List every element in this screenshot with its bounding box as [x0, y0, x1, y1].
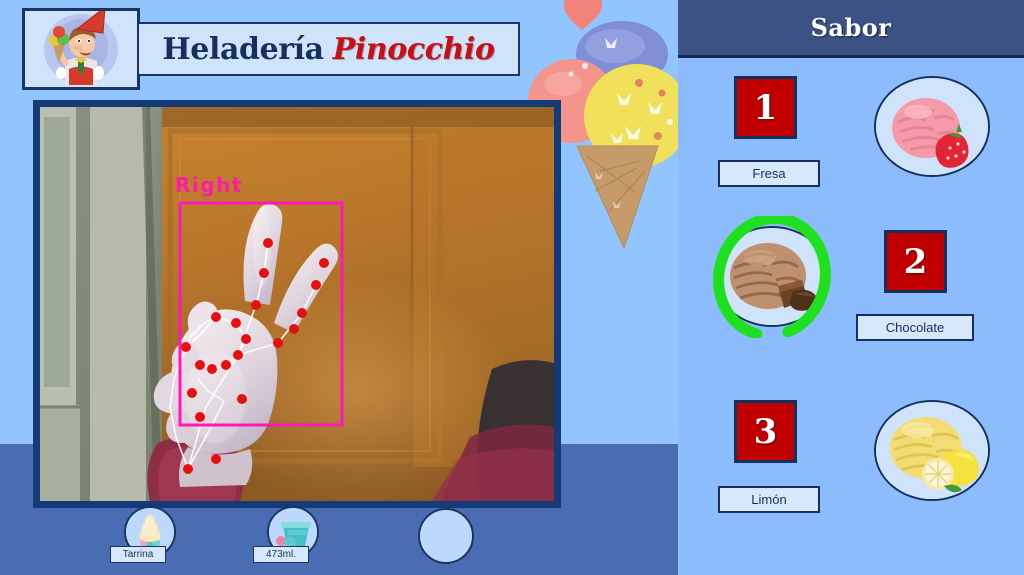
toolbar-item-tarrina[interactable]: Tarrina [124, 506, 184, 566]
flavor-label: Fresa [718, 160, 820, 187]
title-name-word: Pinocchio [333, 32, 495, 67]
toolbar-item-label: Tarrina [110, 546, 166, 563]
flavor-number: 1 [754, 91, 778, 125]
flavor-sidebar: Sabor 1 Fresa [678, 0, 1024, 575]
flavor-option-fresa[interactable]: 1 Fresa [678, 72, 1024, 204]
hand-label: Right [175, 173, 243, 197]
sidebar-header: Sabor [678, 0, 1024, 58]
flavor-option-limon[interactable]: 3 Limón [678, 392, 1024, 524]
brand-logo-box [22, 8, 140, 90]
toolbar-item-label: 473ml. [253, 546, 309, 563]
heladeria-kiosk-app: HeladeríaPinocchio [0, 0, 1024, 575]
sidebar-title: Sabor [811, 13, 892, 42]
toolbar-item-473ml[interactable]: 473ml. [267, 506, 327, 566]
title-brand-word: Heladería [162, 32, 323, 67]
flavor-number-badge: 3 [734, 400, 797, 463]
flavor-number-badge: 2 [884, 230, 947, 293]
chocolate-ice-cream-icon [714, 226, 830, 327]
webcam-video-panel[interactable]: Right [33, 100, 561, 508]
page-title: HeladeríaPinocchio [137, 22, 520, 76]
flavor-label: Limón [718, 486, 820, 513]
flavor-number: 2 [904, 245, 928, 279]
flavor-number-badge: 1 [734, 76, 797, 139]
empty-selection-circle[interactable] [418, 508, 474, 564]
strawberry-ice-cream-icon [874, 76, 990, 177]
webcam-feed: Right [40, 107, 554, 501]
lemon-ice-cream-icon [874, 400, 990, 501]
pinocchio-mascot-icon [25, 11, 137, 87]
flavor-number: 3 [754, 415, 778, 449]
flavor-option-chocolate[interactable]: 2 Chocolate [678, 212, 1024, 344]
flavor-label: Chocolate [856, 314, 974, 341]
